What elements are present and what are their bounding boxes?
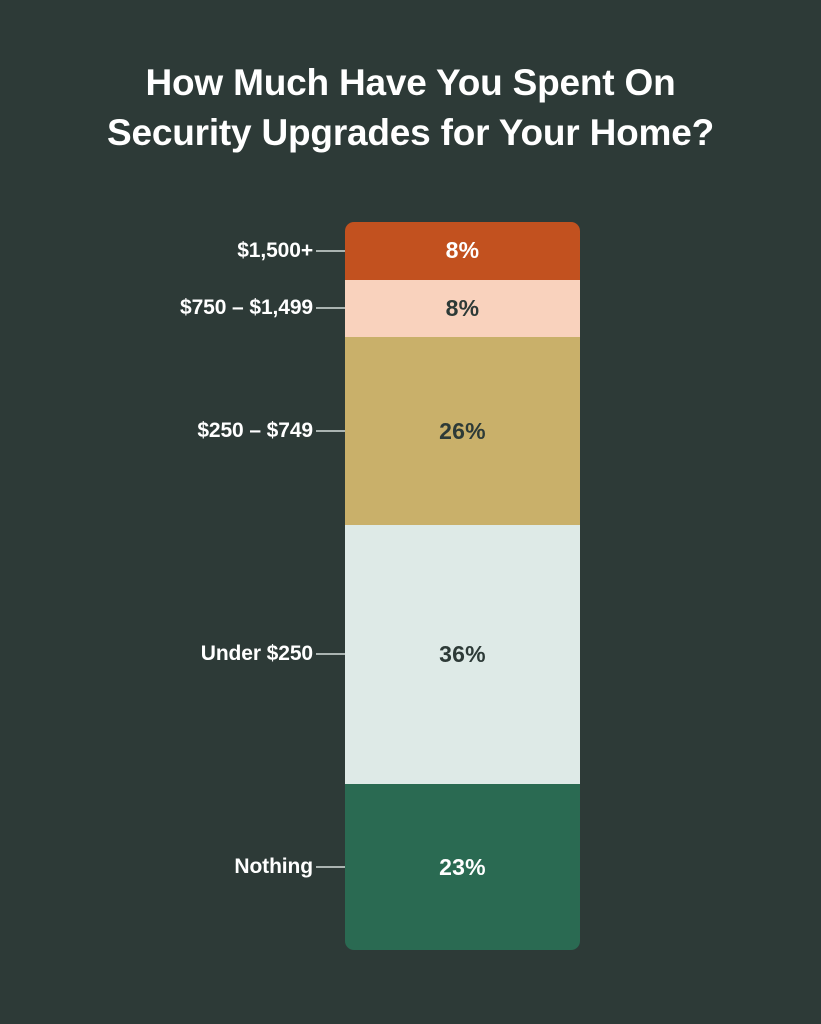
stacked-bar-column: 8%8%26%36%23% — [345, 222, 580, 950]
leader-line — [316, 250, 345, 252]
category-label: $250 – $749 — [197, 419, 313, 443]
category-label: $1,500+ — [237, 239, 313, 263]
segment-value-label: 23% — [439, 854, 486, 881]
segment-value-label: 8% — [446, 295, 480, 322]
leader-line — [316, 430, 345, 432]
leader-line — [316, 653, 345, 655]
bar-segment: 36% — [345, 525, 580, 784]
bar-segment: 8% — [345, 280, 580, 338]
category-label: Nothing — [234, 855, 313, 879]
segment-value-label: 8% — [446, 237, 480, 264]
bar-segment: 26% — [345, 337, 580, 524]
leader-line — [316, 866, 345, 868]
bar-segment: 23% — [345, 784, 580, 950]
category-label: Under $250 — [201, 642, 313, 666]
chart-poster: How Much Have You Spent On Security Upgr… — [0, 0, 821, 1024]
segment-value-label: 26% — [439, 418, 486, 445]
category-label: $750 – $1,499 — [180, 296, 313, 320]
segment-value-label: 36% — [439, 641, 486, 668]
stacked-bar-chart: 8%8%26%36%23% $1,500+$750 – $1,499$250 –… — [0, 0, 821, 1024]
leader-line — [316, 307, 345, 309]
bar-segment: 8% — [345, 222, 580, 280]
